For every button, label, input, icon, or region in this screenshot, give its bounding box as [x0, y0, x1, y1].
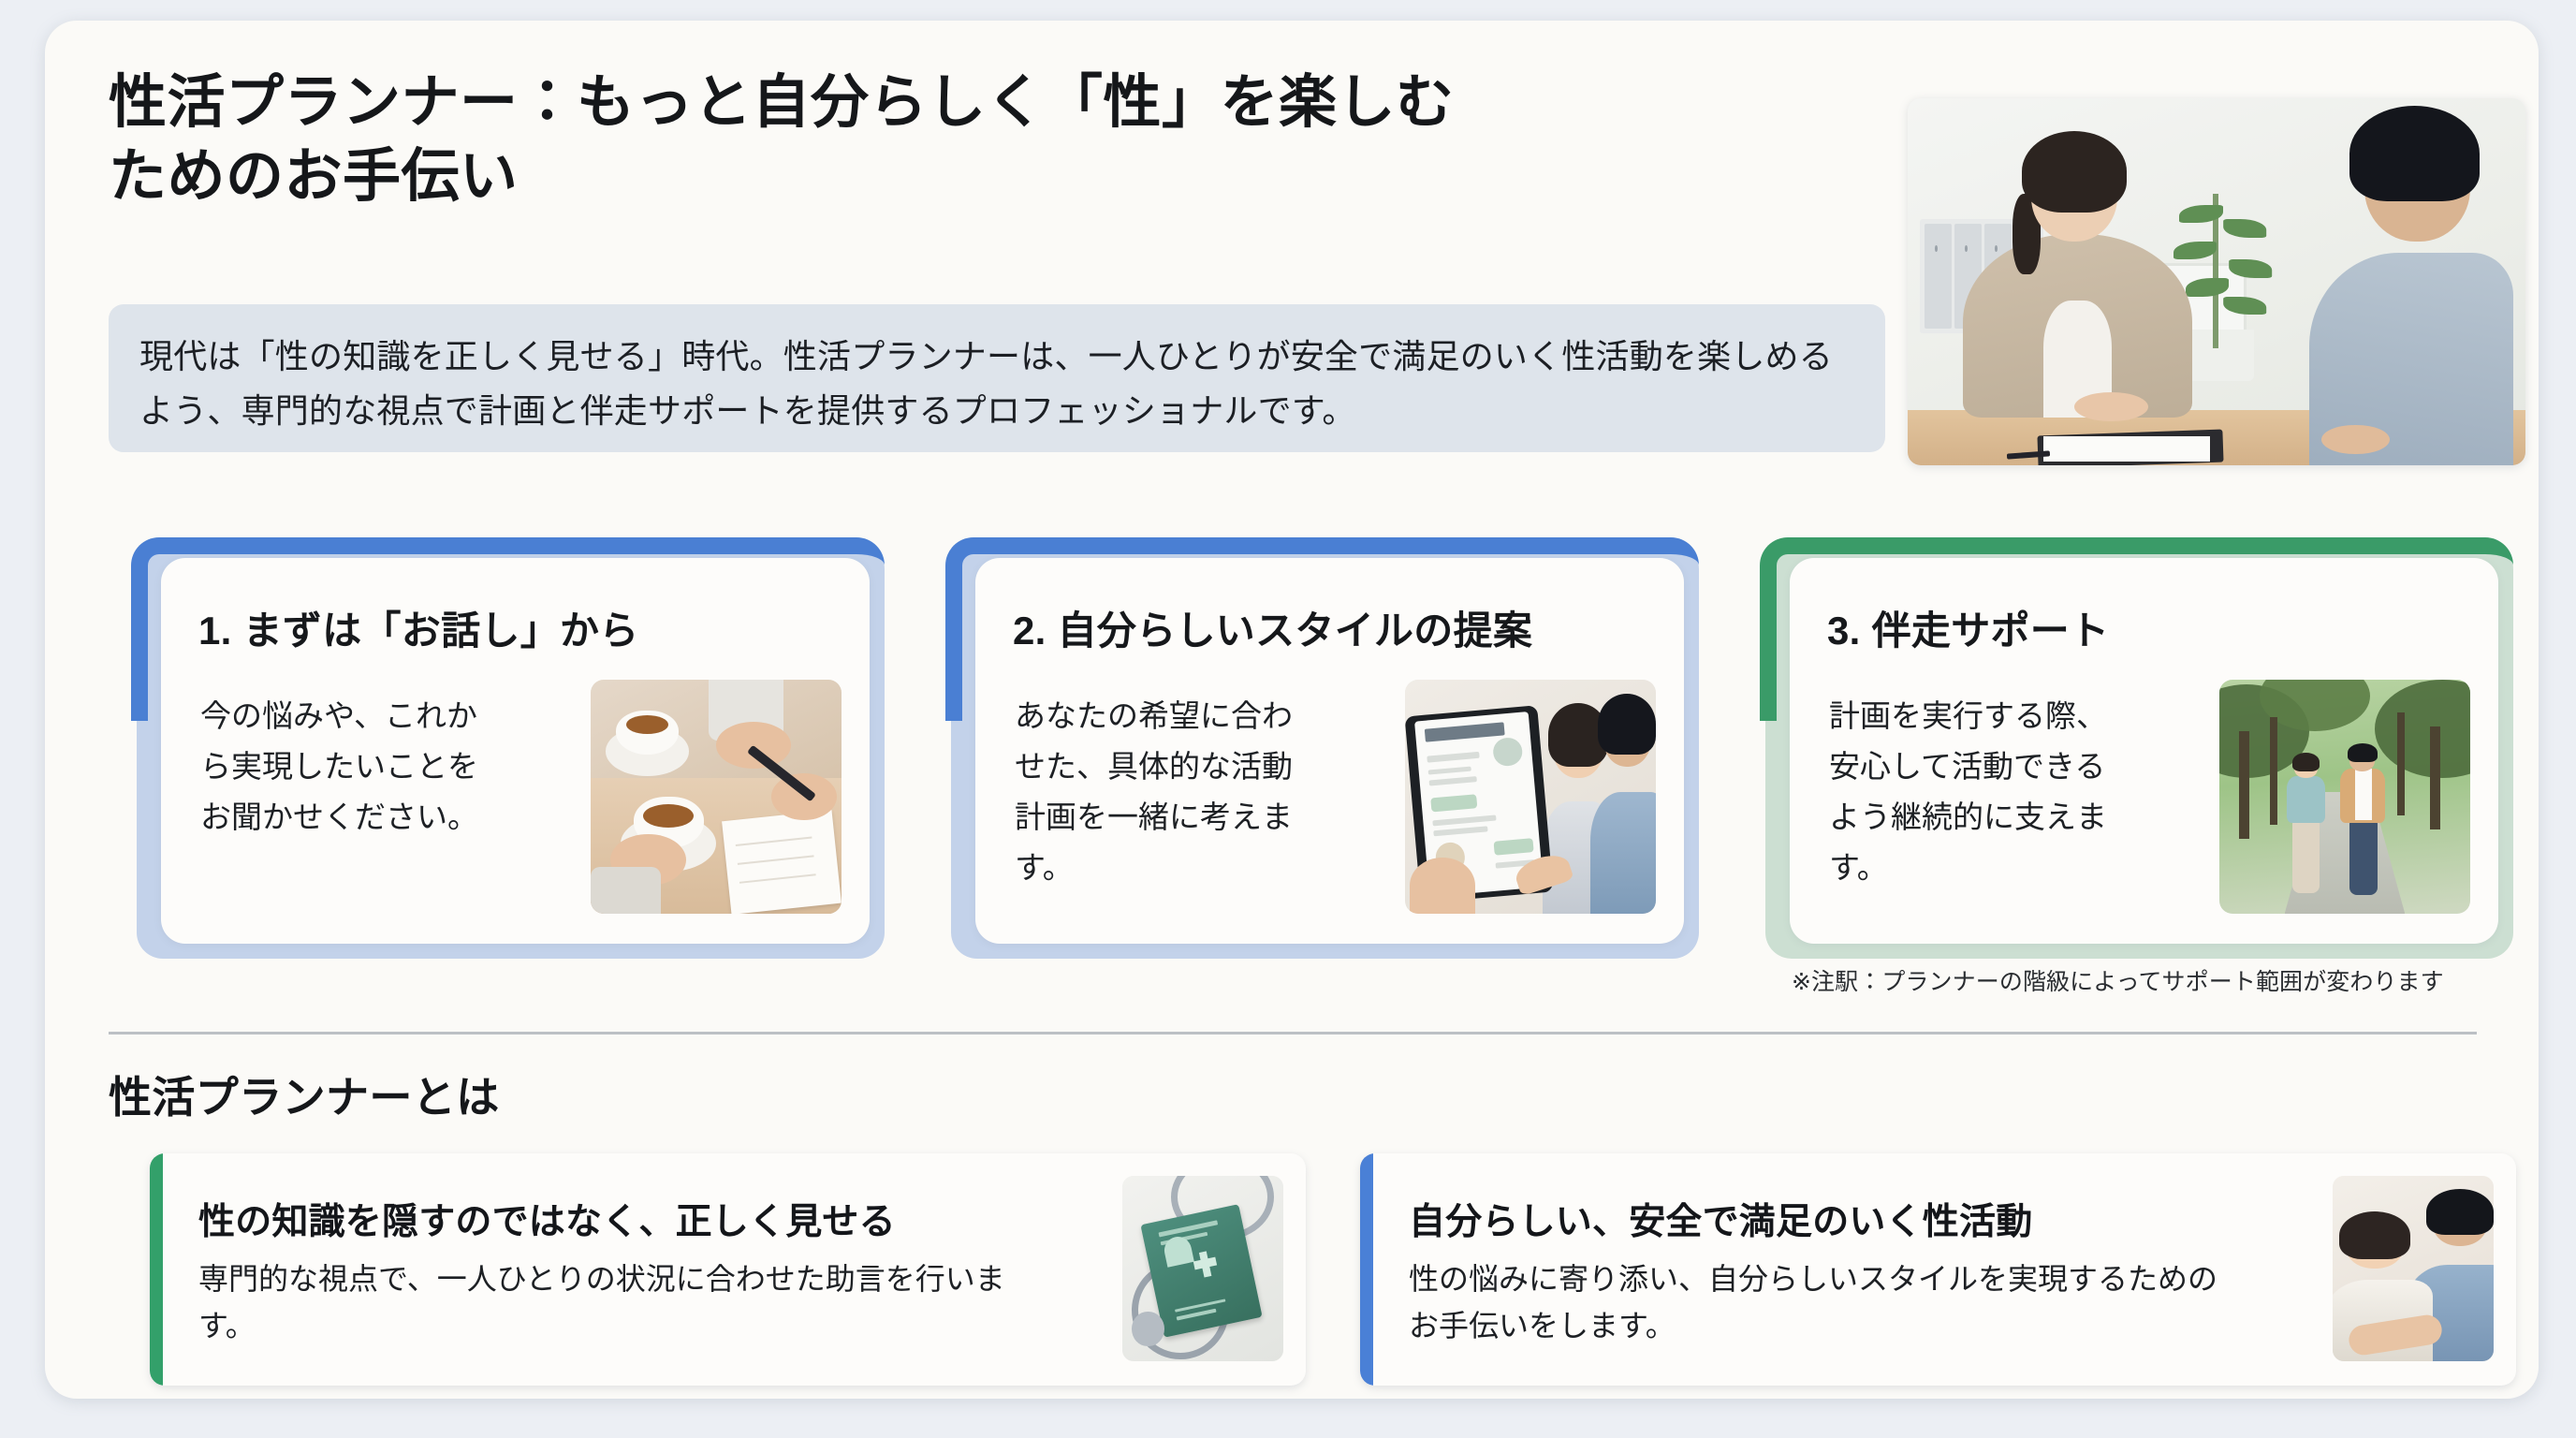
tablet-plan-title [1425, 722, 1505, 741]
section-heading: 性活プランナーとは [109, 1064, 500, 1125]
info-card-text: 性の悩みに寄り添い、自分らしいスタイルを実現するためのお手伝いをします。 [1409, 1256, 2232, 1350]
info-card-2[interactable]: 自分らしい、安全で満足のいく性活動 性の悩みに寄り添い、自分らしいスタイルを実現… [1360, 1153, 2516, 1386]
step-card-3[interactable]: 3. 伴走サポート 計画を実行する際、安心して活動できるよう継続的に支えます。 [1760, 537, 2513, 959]
slide-container: 性活プランナー：もっと自分らしく「性」を楽しむ ためのお手伝い 現代は「性の知識… [45, 21, 2539, 1399]
step-text: 計画を実行する際、安心して活動できるよう継続的に支えます。 [1829, 691, 2119, 893]
page-title: 性活プランナー：もっと自分らしく「性」を楽しむ ためのお手伝い [109, 66, 1868, 214]
lead-text: 現代は「性の知識を正しく見せる」時代。性活プランナーは、一人ひとりが安全で満足の… [139, 330, 1862, 439]
step-card-body: 3. 伴走サポート 計画を実行する際、安心して活動できるよう継続的に支えます。 [1790, 558, 2498, 944]
step-photo [2219, 680, 2470, 914]
info-card-1[interactable]: 性の知識を隠すのではなく、正しく見せる 専門的な視点で、一人ひとりの状況に合わせ… [150, 1153, 1306, 1386]
step-heading: 1. まずは「お話し」から [198, 599, 639, 656]
step-heading: 3. 伴走サポート [1827, 599, 2109, 656]
section-divider [109, 1032, 2477, 1034]
lead-callout: 現代は「性の知識を正しく見せる」時代。性活プランナーは、一人ひとりが安全で満足の… [109, 304, 1885, 452]
step-card-1[interactable]: 1. まずは「お話し」から 今の悩みや、これから実現したいことをお聞かせください… [131, 537, 885, 959]
step-photo-scene [591, 680, 842, 914]
info-card-text: 専門的な視点で、一人ひとりの状況に合わせた助言を行います。 [198, 1256, 1022, 1350]
step-heading: 2. 自分らしいスタイルの提案 [1013, 599, 1532, 656]
info-card-accent-bar [1360, 1153, 1373, 1386]
header-section: 性活プランナー：もっと自分らしく「性」を楽しむ ためのお手伝い 現代は「性の知識… [45, 21, 2539, 489]
info-card-heading: 自分らしい、安全で満足のいく性活動 [1409, 1193, 2032, 1245]
info-card-photo-scene [1122, 1176, 1283, 1361]
info-card-photo-scene [2333, 1176, 2494, 1361]
step-card-2[interactable]: 2. 自分らしいスタイルの提案 あなたの希望に合わせた、具体的な活動計画を一緒に… [945, 537, 1699, 959]
step-card-body: 2. 自分らしいスタイルの提案 あなたの希望に合わせた、具体的な活動計画を一緒に… [975, 558, 1684, 944]
hero-photo [1908, 98, 2525, 465]
step-photo-scene [2219, 680, 2470, 914]
info-card-accent-bar [150, 1153, 163, 1386]
step-photo-scene [1405, 680, 1656, 914]
step-card-body: 1. まずは「お話し」から 今の悩みや、これから実現したいことをお聞かせください… [161, 558, 870, 944]
hero-photo-scene [1908, 98, 2525, 465]
step-photo [1405, 680, 1656, 914]
info-card-photo [1122, 1176, 1283, 1361]
step-photo [591, 680, 842, 914]
step-text: 今の悩みや、これから実現したいことをお聞かせください。 [200, 691, 490, 843]
step-footnote: ※注駅：プランナーの階級によってサポート範囲が変わります [1792, 963, 2531, 997]
info-card-photo [2333, 1176, 2494, 1361]
info-card-heading: 性の知識を隠すのではなく、正しく見せる [198, 1193, 896, 1245]
step-text: あなたの希望に合わせた、具体的な活動計画を一緒に考えます。 [1015, 691, 1305, 893]
